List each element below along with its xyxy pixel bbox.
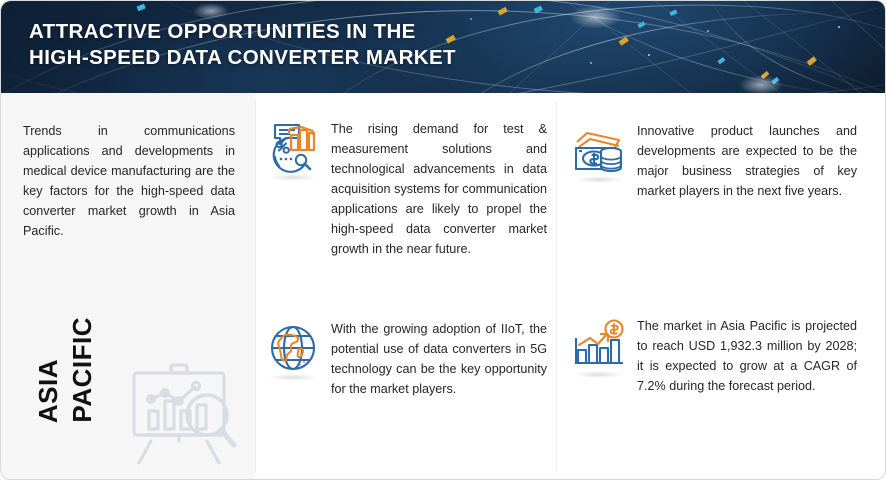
left-panel-body-text: Trends in communications applications an… — [23, 121, 235, 241]
icon-shadow — [269, 174, 317, 181]
card-body-text: With the growing adoption of IIoT, the p… — [331, 319, 547, 399]
card-market-forecast: The market in Asia Pacific is projected … — [569, 316, 859, 396]
card-body-text: Innovative product launches and developm… — [637, 121, 857, 201]
analytics-bar-chart-magnifier-icon — [263, 119, 323, 179]
card-iiot-5g: With the growing adoption of IIoT, the p… — [263, 319, 549, 399]
card-body-text: The rising demand for test & measurement… — [331, 119, 547, 259]
globe-africa-icon — [263, 319, 323, 379]
money-banknote-coins-icon — [569, 121, 629, 181]
icon-shadow — [575, 371, 623, 378]
card-product-launches: Innovative product launches and developm… — [569, 121, 859, 201]
left-region-panel: Trends in communications applications an… — [1, 93, 255, 480]
presentation-chart-magnifier-icon — [121, 349, 251, 471]
region-label-line-2: PACIFIC — [69, 317, 95, 423]
icon-shadow — [269, 374, 317, 381]
region-label-line-1: ASIA — [35, 359, 61, 423]
divider-vertical-left — [255, 99, 256, 473]
icon-shadow — [575, 176, 623, 183]
growth-bar-chart-dollar-icon — [569, 316, 629, 376]
infographic-page: ATTRACTIVE OPPORTUNITIES IN THE HIGH-SPE… — [0, 0, 886, 480]
page-title: ATTRACTIVE OPPORTUNITIES IN THE HIGH-SPE… — [29, 19, 456, 71]
card-body-text: The market in Asia Pacific is projected … — [637, 316, 857, 396]
header-banner: ATTRACTIVE OPPORTUNITIES IN THE HIGH-SPE… — [1, 1, 886, 93]
divider-vertical-middle — [556, 101, 557, 471]
card-test-measurement: The rising demand for test & measurement… — [263, 119, 549, 259]
